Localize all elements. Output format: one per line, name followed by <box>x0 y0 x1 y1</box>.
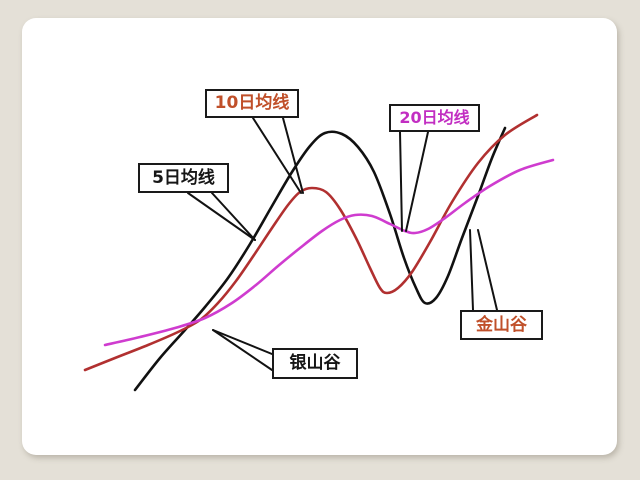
callout-ma5-label: 5日均线 <box>152 170 215 187</box>
leader-line <box>188 193 255 240</box>
callout-ma20[interactable]: 20日均线 <box>389 104 480 132</box>
moving-average-chart <box>0 0 640 480</box>
callout-silver-valley[interactable]: 银山谷 <box>272 348 358 379</box>
callout-golden-valley[interactable]: 金山谷 <box>460 310 543 340</box>
callout-ma20-label: 20日均线 <box>399 110 469 126</box>
leader-line <box>406 132 428 231</box>
leader-line <box>470 230 473 310</box>
callout-silver-valley-label: 银山谷 <box>290 355 341 372</box>
callout-ma10[interactable]: 10日均线 <box>205 89 299 118</box>
callout-ma5[interactable]: 5日均线 <box>138 163 229 193</box>
leader-line <box>478 230 497 310</box>
screenshot-stage: 5日均线 10日均线 20日均线 银山谷 金山谷 <box>0 0 640 480</box>
leader-line-layer <box>188 118 497 370</box>
leader-line <box>400 132 402 231</box>
leader-line <box>212 193 255 240</box>
callout-ma10-label: 10日均线 <box>215 95 290 112</box>
callout-golden-valley-label: 金山谷 <box>476 317 527 334</box>
